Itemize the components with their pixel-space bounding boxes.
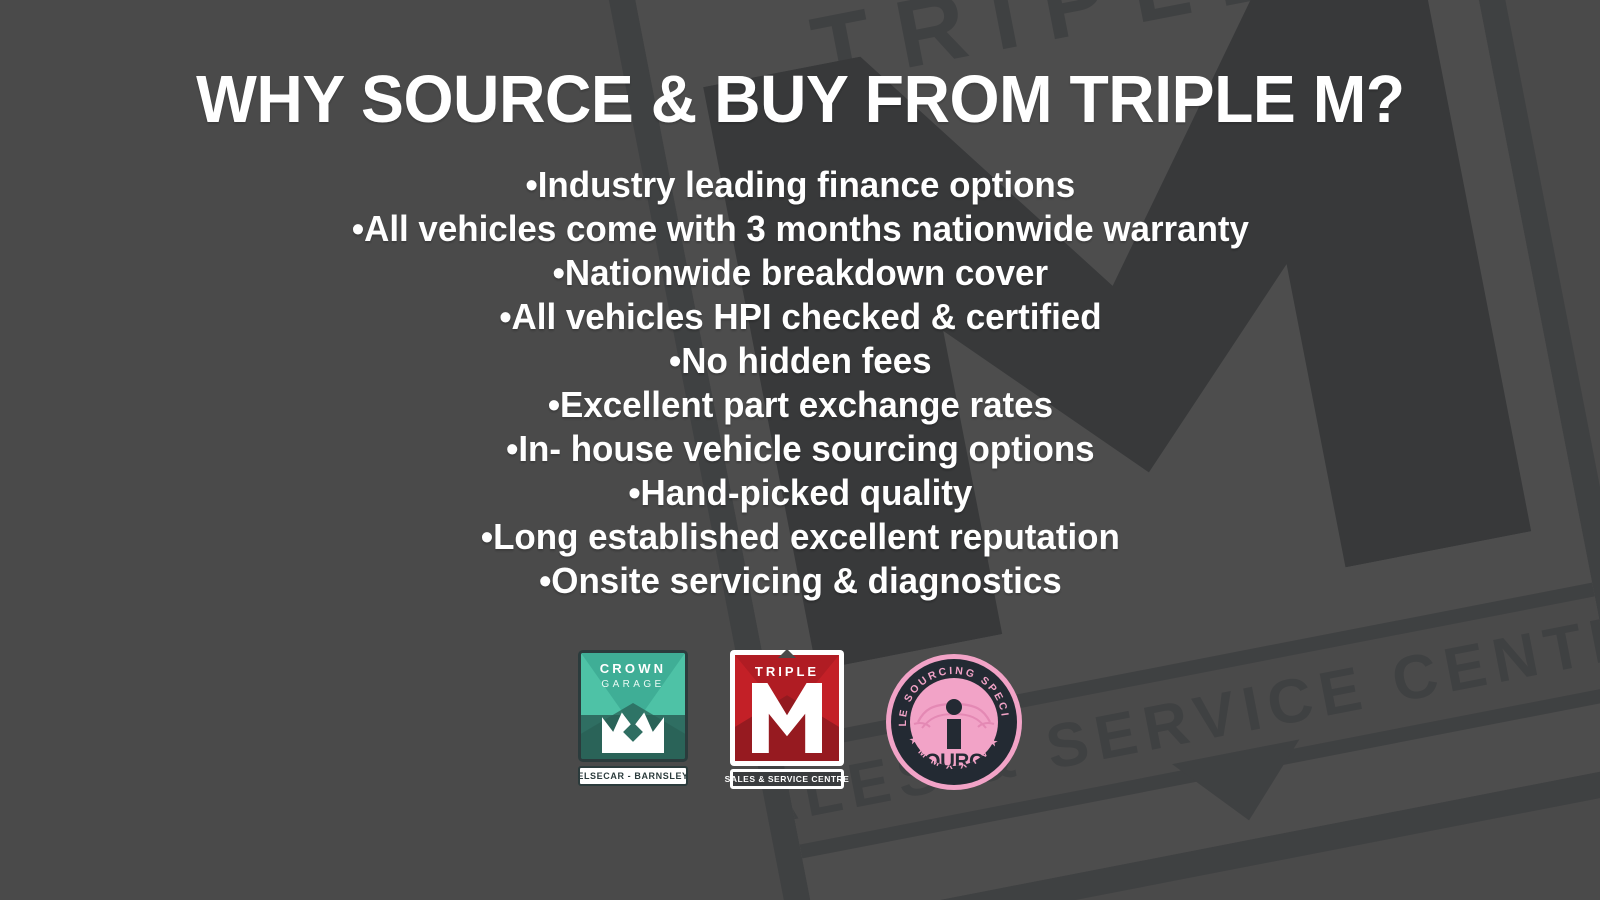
- triple-m-logo: TRIPLE SALES & SERVICE CENTRE: [730, 650, 844, 789]
- triple-m-card: TRIPLE: [735, 655, 839, 761]
- list-item: •Hand-picked quality: [628, 471, 972, 515]
- isource-badge-logo: VEHICLE SOURCING SPECIALISTS ★ M M X X I…: [886, 654, 1022, 790]
- logo-row: CROWN GARAGE ELSECAR - BARNSLEY TRIPLE S…: [0, 650, 1600, 790]
- isource-wordmark: SOURCE: [911, 750, 997, 766]
- isource-i-dot-icon: [946, 699, 962, 715]
- promo-slide: TRIPLE SALES & SERVICE CENTRE WHY SOURCE…: [0, 0, 1600, 900]
- list-item: •Industry leading finance options: [525, 163, 1075, 207]
- list-item: •Onsite servicing & diagnostics: [539, 559, 1062, 603]
- list-item: •Nationwide breakdown cover: [552, 251, 1047, 295]
- crown-garage-card: CROWN GARAGE: [578, 650, 688, 762]
- crown-brand-name: CROWN: [581, 661, 685, 676]
- list-item: •Excellent part exchange rates: [547, 383, 1052, 427]
- list-item: •No hidden fees: [669, 339, 932, 383]
- page-title: WHY SOURCE & BUY FROM TRIPLE M?: [196, 66, 1404, 133]
- isource-center: SOURCE: [910, 678, 998, 766]
- triple-m-frame: TRIPLE: [730, 650, 844, 766]
- triple-m-notch-icon: [778, 649, 796, 658]
- crown-garage-logo: CROWN GARAGE ELSECAR - BARNSLEY: [578, 650, 688, 786]
- triple-m-caption: SALES & SERVICE CENTRE: [730, 769, 844, 789]
- isource-i-stem-icon: [947, 719, 961, 749]
- list-item: •All vehicles come with 3 months nationw…: [351, 207, 1248, 251]
- list-item: •In- house vehicle sourcing options: [506, 427, 1094, 471]
- list-item: •Long established excellent reputation: [481, 515, 1120, 559]
- crown-brand-sub: GARAGE: [581, 679, 685, 690]
- crown-location-caption: ELSECAR - BARNSLEY: [578, 766, 688, 786]
- benefits-list: •Industry leading finance options •All v…: [0, 163, 1600, 603]
- triple-m-brand-name: TRIPLE: [735, 664, 839, 679]
- list-item: •All vehicles HPI checked & certified: [499, 295, 1101, 339]
